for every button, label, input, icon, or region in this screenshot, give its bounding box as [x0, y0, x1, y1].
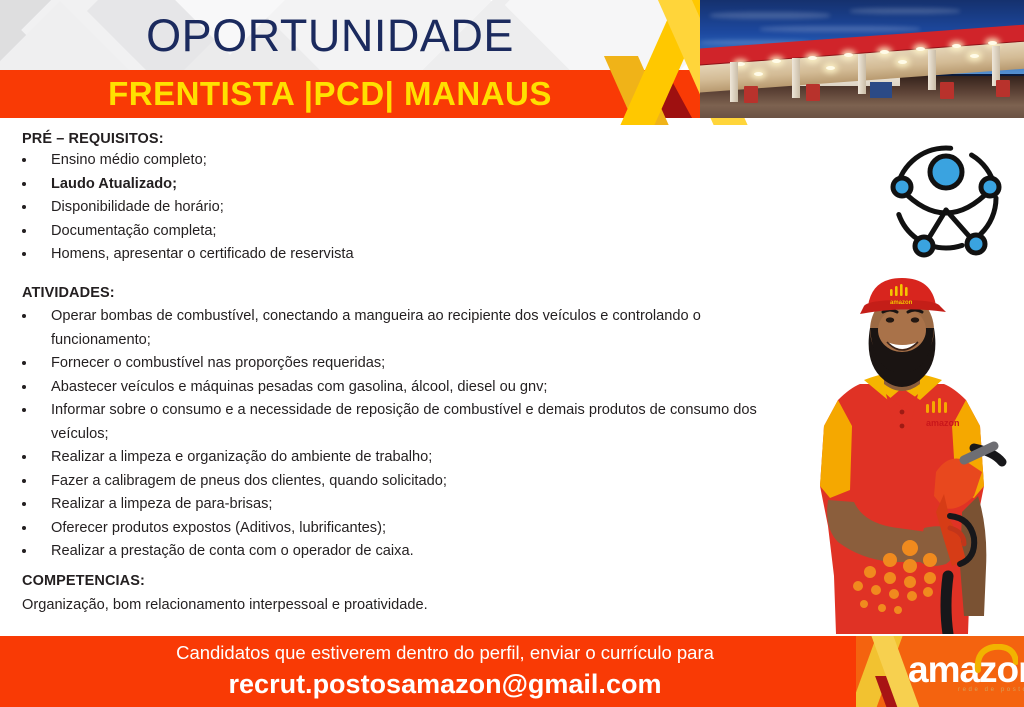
requirements-heading: PRÉ – REQUISITOS:: [22, 131, 164, 147]
canopy-pillar: [730, 62, 738, 102]
list-item-text: Realizar a limpeza e organização do ambi…: [51, 449, 432, 465]
job-posting-poster: OPORTUNIDADE FRENTISTA |PCD| MANAUS: [0, 0, 1024, 707]
canopy-light: [952, 44, 961, 48]
bullet-dot: [22, 252, 26, 256]
activities-list: Operar bombas de combustível, conectando…: [0, 305, 800, 564]
canopy-light: [988, 41, 997, 45]
parked-vehicle: [870, 82, 892, 98]
list-item: Operar bombas de combustível, conectando…: [0, 305, 800, 352]
brand-tagline: rede de postos: [958, 687, 1024, 693]
fuel-pump: [940, 82, 954, 99]
bullet-dot: [22, 455, 26, 459]
list-item: Fazer a calibragem de pneus dos clientes…: [0, 470, 800, 494]
list-item: Ensino médio completo;: [0, 149, 780, 173]
bullet-dot: [22, 408, 26, 412]
list-item-text: Fazer a calibragem de pneus dos clientes…: [51, 473, 447, 489]
bullet-dot: [22, 502, 26, 506]
list-item-text: Informar sobre o consumo e a necessidade…: [51, 402, 757, 442]
fuel-pump: [806, 84, 820, 101]
gas-station-photo: [700, 0, 1024, 118]
list-item: Oferecer produtos expostos (Aditivos, lu…: [0, 517, 800, 541]
canopy-light: [970, 54, 979, 58]
bullet-dot: [22, 182, 26, 186]
canopy-pillar: [928, 50, 936, 90]
cloud: [710, 12, 830, 19]
list-item: Laudo Atualizado;: [0, 173, 780, 197]
bullet-dot: [22, 479, 26, 483]
canopy-light: [916, 47, 925, 51]
canopy-light: [754, 72, 763, 76]
swoosh-icon: [974, 644, 1018, 674]
list-item: Abastecer veículos e máquinas pesadas co…: [0, 376, 800, 400]
canopy-light: [844, 53, 853, 57]
list-item: Realizar a prestação de conta com o oper…: [0, 540, 800, 564]
canopy-light: [808, 56, 817, 60]
list-item-text: Laudo Atualizado;: [51, 176, 177, 192]
cloud: [760, 26, 920, 32]
list-item: Documentação completa;: [0, 220, 780, 244]
activities-heading: ATIVIDADES:: [22, 285, 115, 301]
list-item-text: Operar bombas de combustível, conectando…: [51, 308, 701, 348]
canopy-light: [772, 59, 781, 63]
list-item: Fornecer o combustível nas proporções re…: [0, 352, 800, 376]
canopy-light: [898, 60, 907, 64]
list-item-text: Realizar a limpeza de para-brisas;: [51, 496, 272, 512]
footer-call-to-action: Candidatos que estiverem dentro do perfi…: [0, 639, 890, 667]
list-item-text: Oferecer produtos expostos (Aditivos, lu…: [51, 520, 386, 536]
list-item: Informar sobre o consumo e a necessidade…: [0, 399, 800, 446]
list-item-text: Fornecer o combustível nas proporções re…: [51, 355, 385, 371]
fuel-pump: [744, 86, 758, 103]
poster-title: OPORTUNIDADE: [0, 0, 660, 72]
bullet-dot: [22, 361, 26, 365]
list-item-text: Disponibilidade de horário;: [51, 199, 224, 215]
bullet-dot: [22, 549, 26, 553]
footer-email[interactable]: recrut.postosamazon@gmail.com: [0, 665, 890, 703]
list-item-text: Realizar a prestação de conta com o oper…: [51, 543, 414, 559]
svg-text:amazon: amazon: [890, 300, 913, 306]
poster-subtitle: FRENTISTA |PCD| MANAUS: [0, 70, 660, 118]
bullet-dot: [22, 158, 26, 162]
fuel-pump: [996, 80, 1010, 97]
inclusion-network-icon: [880, 132, 1012, 264]
bullet-dot: [22, 385, 26, 389]
bullet-dot: [22, 205, 26, 209]
bullet-dot: [22, 526, 26, 530]
canopy-light: [826, 66, 835, 70]
canopy-light: [880, 50, 889, 54]
poster-header: OPORTUNIDADE FRENTISTA |PCD| MANAUS: [0, 0, 1024, 125]
bullet-dot: [22, 229, 26, 233]
list-item-text: Abastecer veículos e máquinas pesadas co…: [51, 379, 547, 395]
competencies-heading: COMPETENCIAS:: [22, 573, 145, 589]
list-item: Realizar a limpeza e organização do ambi…: [0, 446, 800, 470]
canopy-pillar: [792, 58, 800, 98]
list-item: Homens, apresentar o certificado de rese…: [0, 243, 780, 267]
canopy-pillar: [858, 54, 866, 94]
cloud: [850, 8, 960, 14]
requirements-list: Ensino médio completo; Laudo Atualizado;…: [0, 149, 780, 267]
list-item-text: Ensino médio completo;: [51, 152, 207, 168]
svg-text:amazon: amazon: [926, 418, 960, 428]
list-item: Realizar a limpeza de para-brisas;: [0, 493, 800, 517]
bullet-dot: [22, 314, 26, 318]
list-item: Disponibilidade de horário;: [0, 196, 780, 220]
competencies-body: Organização, bom relacionamento interpes…: [22, 594, 428, 617]
list-item-text: Documentação completa;: [51, 223, 216, 239]
list-item-text: Homens, apresentar o certificado de rese…: [51, 246, 354, 262]
attendant-photo: amazon: [798, 276, 1024, 634]
amazon-brand-logo: amazon rede de postos: [856, 636, 1024, 707]
